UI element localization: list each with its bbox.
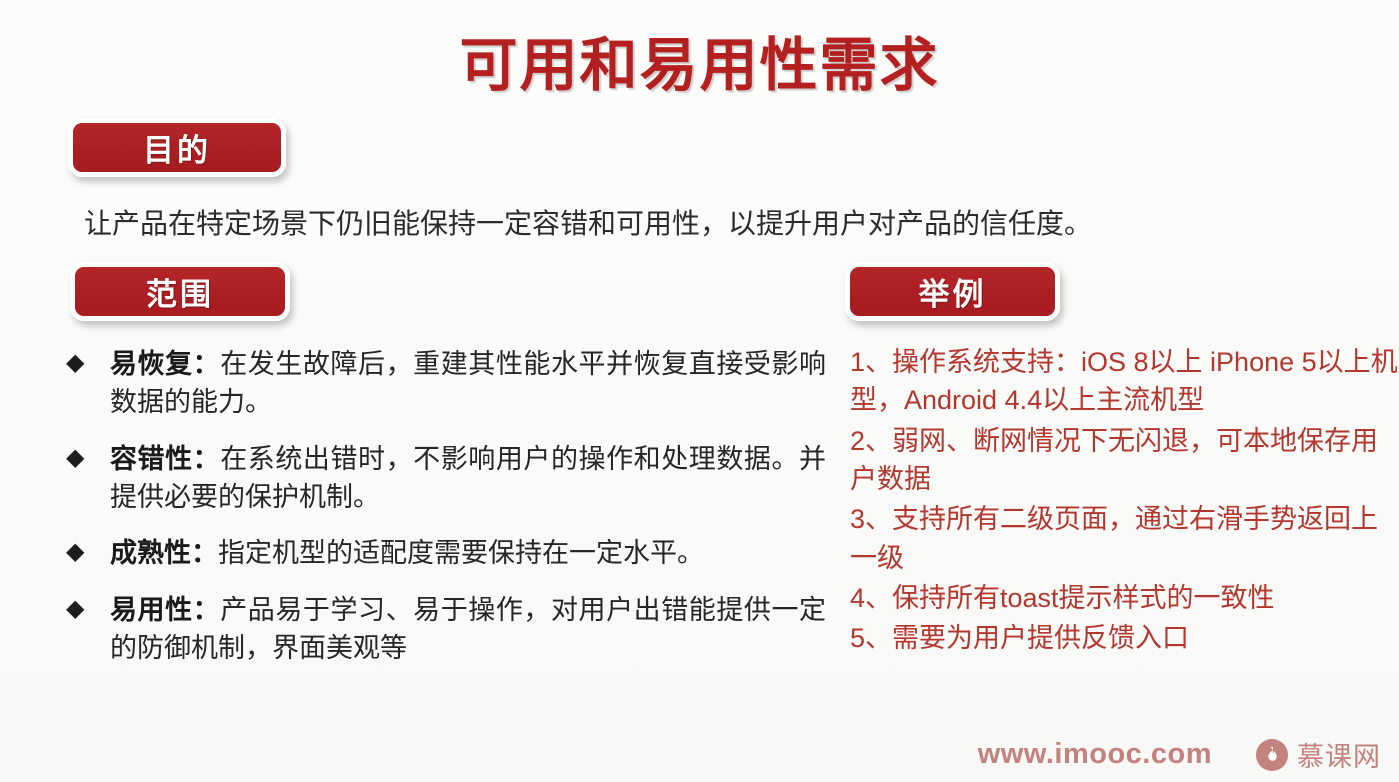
scope-item-body: 易恢复：在发生故障后，重建其性能水平并恢复直接受影响数据的能力。	[110, 345, 826, 422]
list-item: 1、操作系统支持：iOS 8以上 iPhone 5以上机型，Android 4.…	[850, 343, 1398, 420]
scope-item-body: 易用性：产品易于学习、易于操作，对用户出错能提供一定的防御机制，界面美观等	[110, 591, 826, 668]
scope-item-term: 易恢复：	[110, 349, 220, 379]
brand-name: 慕课网	[1297, 735, 1381, 774]
list-item: ◆ 成熟性：指定机型的适配度需要保持在一定水平。	[66, 534, 826, 572]
example-list: 1、操作系统支持：iOS 8以上 iPhone 5以上机型，Android 4.…	[850, 343, 1398, 660]
list-item: ◆ 易用性：产品易于学习、易于操作，对用户出错能提供一定的防御机制，界面美观等	[66, 591, 826, 668]
list-item: ◆ 易恢复：在发生故障后，重建其性能水平并恢复直接受影响数据的能力。	[66, 345, 826, 422]
scope-item-body: 容错性：在系统出错时，不影响用户的操作和处理数据。并提供必要的保护机制。	[110, 440, 826, 517]
section-badge-scope: 范围	[70, 262, 290, 321]
purpose-description: 让产品在特定场景下仍旧能保持一定容错和可用性，以提升用户对产品的信任度。	[84, 205, 1324, 243]
diamond-bullet-icon: ◆	[66, 440, 110, 476]
footer: www.imooc.com 慕课网	[978, 735, 1381, 774]
list-item: 4、保持所有toast提示样式的一致性	[850, 579, 1398, 617]
scope-item-desc: 指定机型的适配度需要保持在一定水平。	[218, 538, 704, 568]
diamond-bullet-icon: ◆	[66, 345, 110, 381]
list-item: 5、需要为用户提供反馈入口	[850, 619, 1398, 657]
footer-url: www.imooc.com	[978, 738, 1212, 771]
diamond-bullet-icon: ◆	[66, 534, 110, 570]
scope-item-term: 成熟性：	[110, 538, 218, 568]
list-item: 2、弱网、断网情况下无闪退，可本地保存用户数据	[850, 422, 1398, 499]
list-item: ◆ 容错性：在系统出错时，不影响用户的操作和处理数据。并提供必要的保护机制。	[66, 440, 826, 517]
section-badge-purpose: 目的	[68, 118, 286, 177]
diamond-bullet-icon: ◆	[66, 591, 110, 627]
scope-item-term: 易用性：	[110, 595, 220, 625]
slide-canvas: 可用和易用性需求 目的 让产品在特定场景下仍旧能保持一定容错和可用性，以提升用户…	[0, 0, 1399, 782]
scope-item-body: 成熟性：指定机型的适配度需要保持在一定水平。	[110, 534, 826, 572]
section-badge-example: 举例	[845, 262, 1060, 321]
flame-icon	[1256, 739, 1288, 771]
page-title: 可用和易用性需求	[0, 34, 1399, 98]
scope-list: ◆ 易恢复：在发生故障后，重建其性能水平并恢复直接受影响数据的能力。 ◆ 容错性…	[66, 345, 826, 685]
scope-item-term: 容错性：	[110, 444, 220, 474]
brand-logo: 慕课网	[1256, 735, 1381, 774]
list-item: 3、支持所有二级页面，通过右滑手势返回上一级	[850, 500, 1398, 577]
